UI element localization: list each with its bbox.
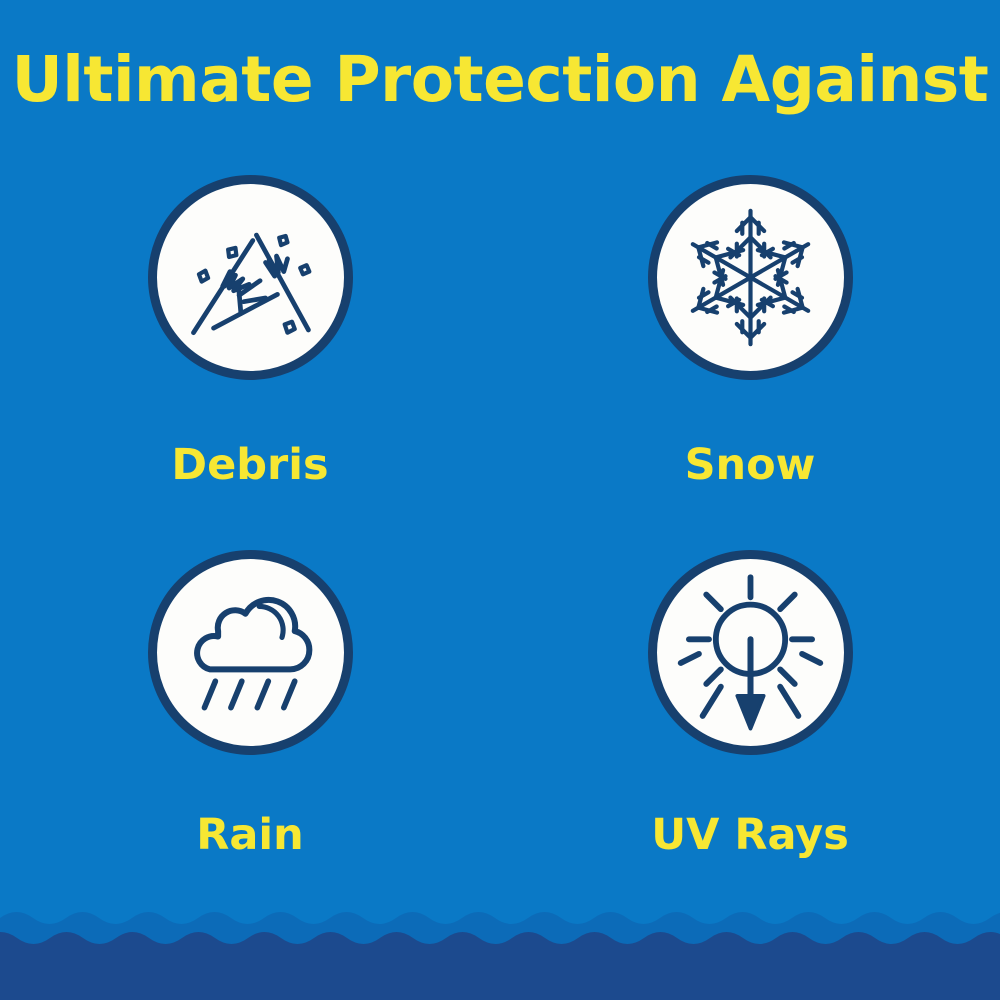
- rain-drop-stroke: [204, 681, 215, 707]
- debris-sticks-icon: [157, 184, 344, 371]
- rain-drop-stroke: [257, 681, 268, 707]
- rain-badge: [148, 550, 353, 755]
- snow-badge: [648, 175, 853, 380]
- feature-grid: Debris: [0, 150, 1000, 890]
- feature-item-uv-rays: UV Rays: [500, 520, 1000, 890]
- pebble-icon: [198, 271, 207, 282]
- feature-item-debris: Debris: [0, 150, 500, 520]
- sun-uv-rays-icon: [657, 559, 844, 746]
- pebble-icon: [228, 248, 236, 257]
- rain-drop-stroke: [283, 681, 294, 707]
- debris-badge: [148, 175, 353, 380]
- uv-rays-badge: [648, 550, 853, 755]
- poster-canvas: Ultimate Protection Against: [0, 0, 1000, 1000]
- rain-drop-stroke: [230, 681, 241, 707]
- pebble-icon: [279, 236, 287, 245]
- snowflake-icon: [657, 184, 844, 371]
- arrow-head-icon: [737, 696, 763, 729]
- feature-item-snow: Snow: [500, 150, 1000, 520]
- feature-item-rain: Rain: [0, 520, 500, 890]
- feature-label-uv-rays: UV Rays: [651, 810, 849, 860]
- pebble-icon: [284, 322, 294, 333]
- rain-cloud-icon: [157, 559, 344, 746]
- page-title: Ultimate Protection Against: [0, 48, 1000, 111]
- pebble-icon: [300, 265, 309, 274]
- feature-label-snow: Snow: [685, 440, 816, 490]
- feature-label-debris: Debris: [171, 440, 328, 490]
- feature-label-rain: Rain: [196, 810, 303, 860]
- wave-decoration: [0, 890, 1000, 1000]
